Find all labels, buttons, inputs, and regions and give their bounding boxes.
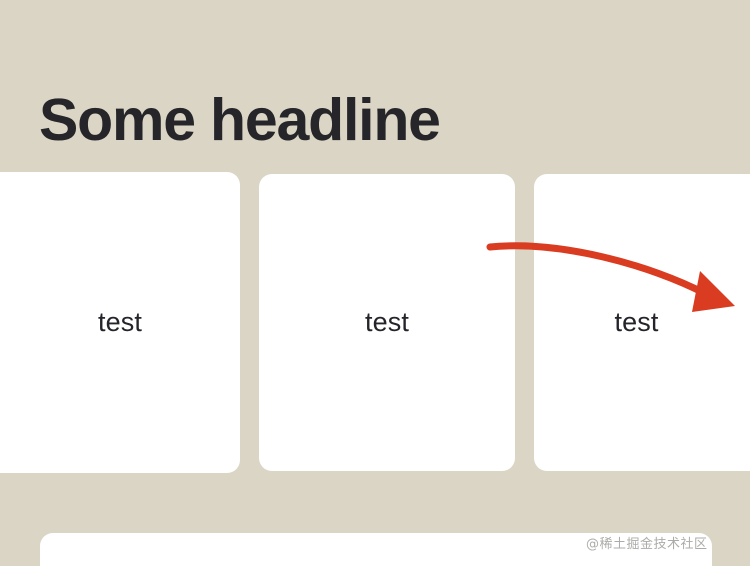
card-item-3[interactable]: test <box>534 174 750 471</box>
slide-canvas: Some headline test test test @稀土掘金技术社区 <box>0 0 750 566</box>
card-label: test <box>98 309 142 336</box>
card-item-1[interactable]: test <box>0 172 240 473</box>
card-item-2[interactable]: test <box>259 174 515 471</box>
page-title: Some headline <box>39 90 440 152</box>
watermark-text: @稀土掘金技术社区 <box>586 533 708 552</box>
card-label: test <box>365 309 409 336</box>
card-label: test <box>615 309 659 336</box>
